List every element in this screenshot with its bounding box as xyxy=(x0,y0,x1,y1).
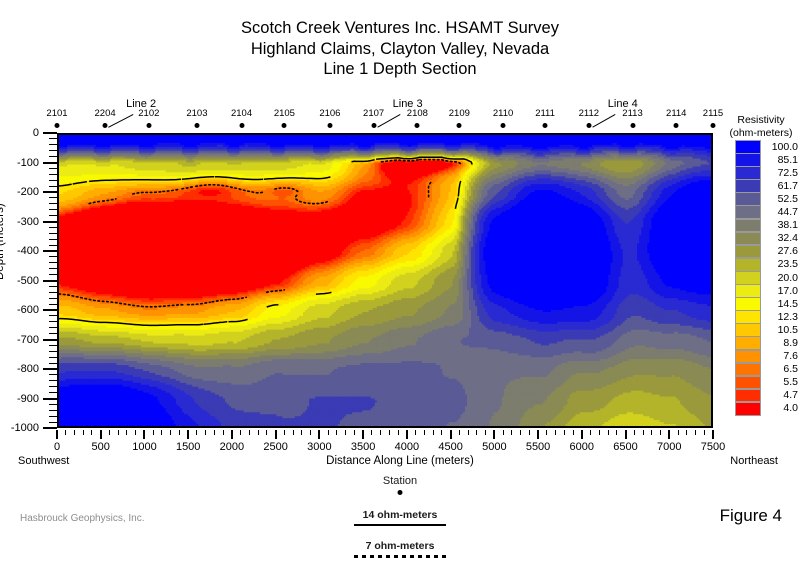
distance-minor-tick xyxy=(135,430,136,435)
depth-minor-tick xyxy=(49,380,57,381)
distance-tick xyxy=(581,430,583,439)
distance-minor-tick xyxy=(616,430,617,435)
station-band: 2101220421022103210421052106210721082109… xyxy=(0,108,800,134)
distance-tick-label-6500: 6500 xyxy=(613,441,637,453)
distance-minor-tick xyxy=(686,430,687,435)
depth-minor-tick xyxy=(49,209,57,210)
station-marker-2112[interactable] xyxy=(586,123,591,128)
colorbar-swatch-7.6 xyxy=(735,350,761,364)
station-label-2106: 2106 xyxy=(319,108,340,119)
depth-minor-tick xyxy=(49,144,57,145)
colorbar-swatch-23.5 xyxy=(735,258,761,272)
distance-tick xyxy=(537,430,539,439)
colorbar-swatch-44.7 xyxy=(735,205,761,219)
station-marker-2111[interactable] xyxy=(543,123,548,128)
station-marker-2108[interactable] xyxy=(415,123,420,128)
distance-minor-tick xyxy=(678,430,679,435)
distance-minor-tick xyxy=(529,430,530,435)
colorbar-swatch-6.5 xyxy=(735,363,761,377)
distance-tick-label-7000: 7000 xyxy=(657,441,681,453)
station-marker-2102[interactable] xyxy=(146,123,151,128)
distance-minor-tick xyxy=(118,430,119,435)
colorbar-swatch-14.5 xyxy=(735,297,761,311)
distance-tick xyxy=(406,430,408,439)
colorbar-swatch-8.9 xyxy=(735,336,761,350)
depth-minor-tick xyxy=(49,351,57,352)
distance-minor-tick xyxy=(126,430,127,435)
distance-minor-tick xyxy=(573,430,574,435)
distance-minor-tick xyxy=(599,430,600,435)
distance-minor-tick xyxy=(109,430,110,435)
colorbar-tick-27.6: 27.6 xyxy=(764,245,798,257)
depth-minor-tick xyxy=(49,138,57,139)
depth-tick-label--300: -300 xyxy=(17,216,39,228)
distance-minor-tick xyxy=(371,430,372,435)
colorbar-tick-72.5: 72.5 xyxy=(764,167,798,179)
depth-minor-tick xyxy=(49,327,57,328)
depth-tick-label--900: -900 xyxy=(17,393,39,405)
depth-minor-tick xyxy=(49,416,57,417)
station-marker-2115[interactable] xyxy=(711,123,716,128)
distance-minor-tick xyxy=(310,430,311,435)
depth-minor-tick xyxy=(49,298,57,299)
distance-minor-tick xyxy=(424,430,425,435)
station-label-2112: 2112 xyxy=(579,108,599,119)
distance-tick-label-6000: 6000 xyxy=(570,441,594,453)
depth-tick xyxy=(43,132,57,134)
colorbar-swatch-20.0 xyxy=(735,271,761,285)
colorbar-tick-10.5: 10.5 xyxy=(764,324,798,336)
depth-minor-tick xyxy=(49,215,57,216)
colorbar-tick-100.0: 100.0 xyxy=(764,141,798,153)
distance-minor-tick xyxy=(91,430,92,435)
depth-minor-tick xyxy=(49,239,57,240)
station-label-2204: 2204 xyxy=(95,108,116,119)
page-title: Scotch Creek Ventures Inc. HSAMT Survey … xyxy=(0,18,800,80)
station-label-2103: 2103 xyxy=(186,108,207,119)
station-marker-2113[interactable] xyxy=(630,123,635,128)
title-line-3: Line 1 Depth Section xyxy=(0,59,800,80)
distance-minor-tick xyxy=(643,430,644,435)
distance-minor-tick xyxy=(196,430,197,435)
legend-station-label: Station xyxy=(0,475,800,487)
colorbar-tick-12.3: 12.3 xyxy=(764,311,798,323)
depth-tick-label--500: -500 xyxy=(17,275,39,287)
credit-text: Hasbrouck Geophysics, Inc. xyxy=(20,513,145,524)
depth-minor-tick xyxy=(49,262,57,263)
distance-tick xyxy=(275,430,277,439)
depth-tick xyxy=(43,427,57,429)
distance-tick xyxy=(187,430,189,439)
depth-minor-tick xyxy=(49,174,57,175)
depth-minor-tick xyxy=(49,422,57,423)
depth-minor-tick xyxy=(49,233,57,234)
station-label-2110: 2110 xyxy=(493,108,513,119)
depth-tick xyxy=(43,309,57,311)
distance-minor-tick xyxy=(468,430,469,435)
colorbar-tick-20.0: 20.0 xyxy=(764,272,798,284)
station-label-2115: 2115 xyxy=(703,108,723,119)
distance-minor-tick xyxy=(284,430,285,435)
distance-minor-tick xyxy=(301,430,302,435)
distance-tick xyxy=(668,430,670,439)
colorbar-swatch-61.7 xyxy=(735,179,761,193)
station-label-2105: 2105 xyxy=(274,108,295,119)
depth-minor-tick xyxy=(49,357,57,358)
distance-minor-tick xyxy=(293,430,294,435)
station-marker-2103[interactable] xyxy=(194,123,199,128)
legend-contour14-line-icon xyxy=(354,524,446,526)
depth-minor-tick xyxy=(49,168,57,169)
station-marker-2110[interactable] xyxy=(501,123,506,128)
colorbar-tick-7.6: 7.6 xyxy=(764,350,798,362)
colorbar-swatch-12.3 xyxy=(735,310,761,324)
resistivity-colorbar xyxy=(735,140,761,415)
distance-minor-tick xyxy=(459,430,460,435)
distance-tick-label-3000: 3000 xyxy=(307,441,331,453)
distance-tick-label-2000: 2000 xyxy=(220,441,244,453)
distance-tick-label-3500: 3500 xyxy=(351,441,375,453)
colorbar-tick-85.1: 85.1 xyxy=(764,154,798,166)
distance-tick xyxy=(450,430,452,439)
legend-contour7-label: 7 ohm-meters xyxy=(0,540,800,552)
distance-tick-label-500: 500 xyxy=(92,441,110,453)
resistivity-section-plot xyxy=(57,133,713,428)
station-marker-2114[interactable] xyxy=(674,123,679,128)
station-dot-icon xyxy=(398,490,403,495)
depth-minor-tick xyxy=(49,410,57,411)
depth-minor-tick xyxy=(49,268,57,269)
distance-minor-tick xyxy=(546,430,547,435)
depth-tick xyxy=(43,280,57,282)
colorbar-swatch-4.0 xyxy=(735,402,761,416)
colorbar-tick-61.7: 61.7 xyxy=(764,180,798,192)
distance-minor-tick xyxy=(608,430,609,435)
depth-minor-tick xyxy=(49,227,57,228)
distance-axis-title: Distance Along Line (meters) xyxy=(0,455,800,467)
depth-tick-label--800: -800 xyxy=(17,363,39,375)
title-line-1: Scotch Creek Ventures Inc. HSAMT Survey xyxy=(0,18,800,39)
station-marker-2101[interactable] xyxy=(55,123,60,128)
depth-minor-tick xyxy=(49,333,57,334)
distance-tick xyxy=(143,430,145,439)
depth-minor-tick xyxy=(49,363,57,364)
depth-minor-tick xyxy=(49,256,57,257)
station-label-2109: 2109 xyxy=(449,108,470,119)
distance-minor-tick xyxy=(65,430,66,435)
depth-minor-tick xyxy=(49,345,57,346)
distance-minor-tick xyxy=(266,430,267,435)
distance-minor-tick xyxy=(83,430,84,435)
distance-tick-label-7500: 7500 xyxy=(701,441,725,453)
depth-tick xyxy=(43,191,57,193)
distance-minor-tick xyxy=(205,430,206,435)
colorbar-swatch-10.5 xyxy=(735,323,761,337)
distance-minor-tick xyxy=(328,430,329,435)
distance-tick-label-0: 0 xyxy=(54,441,60,453)
depth-minor-tick xyxy=(49,156,57,157)
distance-minor-tick xyxy=(240,430,241,435)
station-marker-2104[interactable] xyxy=(239,123,244,128)
distance-minor-tick xyxy=(651,430,652,435)
colorbar-tick-32.4: 32.4 xyxy=(764,232,798,244)
colorbar-tick-8.9: 8.9 xyxy=(764,337,798,349)
crossline-label-line-2: Line 2 xyxy=(126,98,156,110)
depth-minor-tick xyxy=(49,186,57,187)
colorbar-tick-52.5: 52.5 xyxy=(764,193,798,205)
distance-minor-tick xyxy=(704,430,705,435)
depth-tick xyxy=(43,398,57,400)
station-marker-2105[interactable] xyxy=(282,123,287,128)
colorbar-tick-5.5: 5.5 xyxy=(764,376,798,388)
depth-tick-label--100: -100 xyxy=(17,157,39,169)
distance-tick-label-2500: 2500 xyxy=(263,441,287,453)
distance-minor-tick xyxy=(249,430,250,435)
depth-minor-tick xyxy=(49,304,57,305)
distance-minor-tick xyxy=(634,430,635,435)
colorbar-tick-44.7: 44.7 xyxy=(764,206,798,218)
colorbar-swatch-32.4 xyxy=(735,232,761,246)
figure-root: Scotch Creek Ventures Inc. HSAMT Survey … xyxy=(0,0,800,569)
figure-number: Figure 4 xyxy=(720,506,782,526)
depth-minor-tick xyxy=(49,203,57,204)
colorbar-swatch-17.0 xyxy=(735,284,761,298)
depth-minor-tick xyxy=(49,292,57,293)
distance-tick xyxy=(493,430,495,439)
distance-minor-tick xyxy=(223,430,224,435)
distance-tick xyxy=(318,430,320,439)
depth-tick-label--400: -400 xyxy=(17,245,39,257)
depth-minor-tick xyxy=(49,321,57,322)
distance-minor-tick xyxy=(433,430,434,435)
distance-tick xyxy=(231,430,233,439)
colorbar-swatch-4.7 xyxy=(735,389,761,403)
distance-minor-tick xyxy=(170,430,171,435)
distance-minor-tick xyxy=(485,430,486,435)
colorbar-swatch-5.5 xyxy=(735,376,761,390)
colorbar-tick-4.7: 4.7 xyxy=(764,389,798,401)
distance-minor-tick xyxy=(415,430,416,435)
colorbar-swatch-72.5 xyxy=(735,166,761,180)
distance-tick xyxy=(100,430,102,439)
colorbar-swatch-38.1 xyxy=(735,219,761,233)
crossline-label-line-4: Line 4 xyxy=(608,98,638,110)
northeast-label: Northeast xyxy=(730,455,778,467)
colorbar-tick-23.5: 23.5 xyxy=(764,258,798,270)
title-line-2: Highland Claims, Clayton Valley, Nevada xyxy=(0,39,800,60)
distance-minor-tick xyxy=(476,430,477,435)
distance-tick-label-5000: 5000 xyxy=(482,441,506,453)
distance-minor-tick xyxy=(695,430,696,435)
depth-tick xyxy=(43,250,57,252)
station-marker-2204[interactable] xyxy=(103,123,108,128)
depth-tick-label--700: -700 xyxy=(17,334,39,346)
depth-minor-tick xyxy=(49,197,57,198)
colorbar-swatch-27.6 xyxy=(735,245,761,259)
colorbar-tick-6.5: 6.5 xyxy=(764,363,798,375)
distance-minor-tick xyxy=(336,430,337,435)
distance-tick xyxy=(362,430,364,439)
depth-minor-tick xyxy=(49,245,57,246)
section-image xyxy=(59,135,711,426)
distance-minor-tick xyxy=(380,430,381,435)
colorbar-tick-38.1: 38.1 xyxy=(764,219,798,231)
depth-tick xyxy=(43,339,57,341)
depth-minor-tick xyxy=(49,315,57,316)
distance-minor-tick xyxy=(354,430,355,435)
depth-tick-label--600: -600 xyxy=(17,304,39,316)
distance-minor-tick xyxy=(660,430,661,435)
depth-minor-tick xyxy=(49,180,57,181)
distance-tick xyxy=(56,430,58,439)
distance-minor-tick xyxy=(564,430,565,435)
distance-minor-tick xyxy=(441,430,442,435)
distance-tick-label-4000: 4000 xyxy=(395,441,419,453)
colorbar-swatch-52.5 xyxy=(735,192,761,206)
distance-tick-label-5500: 5500 xyxy=(526,441,550,453)
distance-minor-tick xyxy=(520,430,521,435)
depth-tick xyxy=(43,221,57,223)
station-label-2114: 2114 xyxy=(666,108,686,119)
distance-tick-label-1500: 1500 xyxy=(176,441,200,453)
depth-minor-tick xyxy=(49,392,57,393)
legend-contour7-line-icon xyxy=(354,555,446,558)
colorbar-swatch-100.0 xyxy=(735,140,761,154)
distance-tick xyxy=(712,430,714,439)
southwest-label: Southwest xyxy=(18,455,69,467)
station-label-2111: 2111 xyxy=(535,108,555,119)
depth-axis-title: Depth (meters) xyxy=(0,203,6,280)
distance-minor-tick xyxy=(503,430,504,435)
depth-minor-tick xyxy=(49,150,57,151)
distance-minor-tick xyxy=(258,430,259,435)
depth-minor-tick xyxy=(49,374,57,375)
distance-minor-tick xyxy=(74,430,75,435)
distance-tick-label-4500: 4500 xyxy=(438,441,462,453)
station-label-2107: 2107 xyxy=(363,108,384,119)
distance-minor-tick xyxy=(511,430,512,435)
station-marker-2109[interactable] xyxy=(457,123,462,128)
colorbar-title: Resistivity (ohm-meters) xyxy=(722,114,800,140)
station-marker-2107[interactable] xyxy=(371,123,376,128)
distance-minor-tick xyxy=(345,430,346,435)
distance-minor-tick xyxy=(389,430,390,435)
depth-minor-tick xyxy=(49,286,57,287)
distance-minor-tick xyxy=(555,430,556,435)
crossline-label-line-3: Line 3 xyxy=(393,98,423,110)
colorbar-swatch-85.1 xyxy=(735,153,761,167)
station-marker-2106[interactable] xyxy=(327,123,332,128)
distance-minor-tick xyxy=(590,430,591,435)
distance-minor-tick xyxy=(153,430,154,435)
colorbar-title-line-2: (ohm-meters) xyxy=(722,127,800,140)
distance-tick-label-1000: 1000 xyxy=(132,441,156,453)
colorbar-tick-17.0: 17.0 xyxy=(764,285,798,297)
depth-tick xyxy=(43,368,57,370)
depth-minor-tick xyxy=(49,386,57,387)
depth-tick xyxy=(43,162,57,164)
depth-tick-label-0: 0 xyxy=(33,127,39,139)
depth-tick-label--200: -200 xyxy=(17,186,39,198)
depth-tick-label--1000: -1000 xyxy=(11,422,39,434)
distance-minor-tick xyxy=(179,430,180,435)
colorbar-tick-4.0: 4.0 xyxy=(764,402,798,414)
colorbar-title-line-1: Resistivity xyxy=(722,114,800,127)
station-label-2101: 2101 xyxy=(46,108,67,119)
colorbar-tick-14.5: 14.5 xyxy=(764,298,798,310)
distance-minor-tick xyxy=(161,430,162,435)
distance-minor-tick xyxy=(214,430,215,435)
depth-minor-tick xyxy=(49,274,57,275)
station-label-2104: 2104 xyxy=(231,108,252,119)
depth-minor-tick xyxy=(49,404,57,405)
distance-minor-tick xyxy=(398,430,399,435)
distance-tick xyxy=(625,430,627,439)
